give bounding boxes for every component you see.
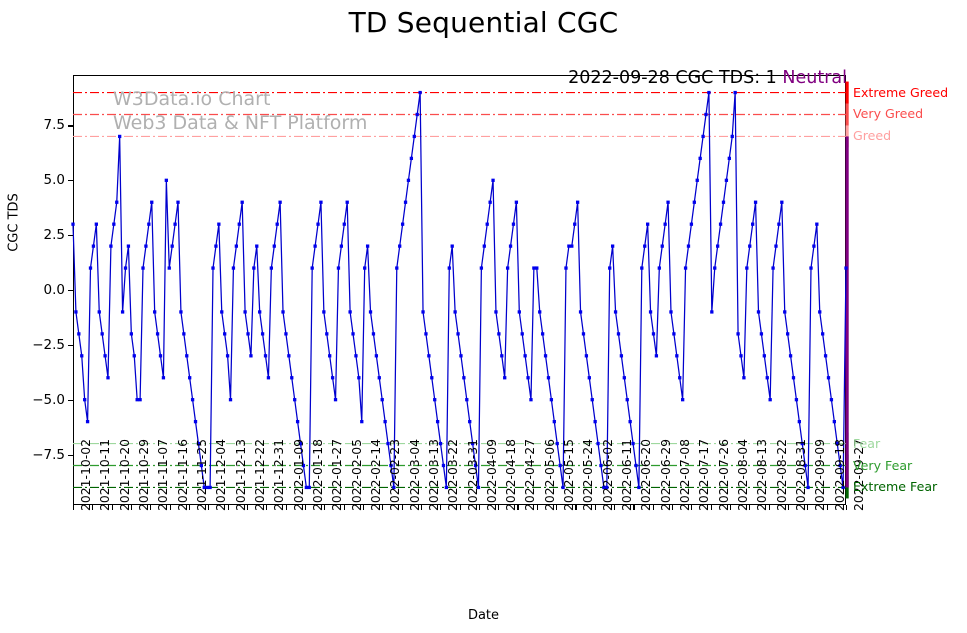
x-tick-mark xyxy=(73,505,74,510)
y-tick-label: −5.0 xyxy=(0,392,65,408)
x-tick-label: 2021-11-25 xyxy=(194,439,209,511)
x-tick-label: 2022-08-31 xyxy=(793,439,808,511)
x-tick-label: 2022-04-18 xyxy=(503,439,518,511)
x-tick-label: 2022-06-02 xyxy=(600,439,615,511)
x-tick-label: 2022-08-13 xyxy=(754,439,769,511)
x-tick-label: 2022-01-09 xyxy=(291,439,306,511)
x-tick-mark xyxy=(827,505,828,510)
y-tick-mark xyxy=(68,180,73,181)
x-tick-label: 2021-10-02 xyxy=(78,439,93,511)
x-tick-label: 2022-02-14 xyxy=(368,439,383,511)
x-tick-mark xyxy=(846,505,847,510)
annotation-sentiment: Neutral xyxy=(782,68,847,88)
x-tick-mark xyxy=(672,505,673,510)
y-axis-label: CGC TDS xyxy=(7,163,22,283)
x-tick-label: 2022-03-04 xyxy=(407,439,422,511)
x-tick-mark xyxy=(440,505,441,510)
x-tick-mark xyxy=(112,505,113,510)
x-tick-label: 2022-03-31 xyxy=(465,439,480,511)
x-tick-label: 2021-11-07 xyxy=(155,439,170,511)
x-tick-label: 2022-09-18 xyxy=(832,439,847,511)
x-tick-label: 2022-02-05 xyxy=(349,439,364,511)
x-tick-label: 2022-05-06 xyxy=(542,439,557,511)
x-tick-mark xyxy=(711,505,712,510)
threshold-label: Fear xyxy=(853,436,880,451)
y-tick-label: 7.5 xyxy=(0,117,65,133)
x-tick-label: 2022-06-29 xyxy=(658,439,673,511)
annotation-text: 2022-09-28 CGC TDS: 1 xyxy=(568,68,777,88)
x-tick-label: 2022-05-15 xyxy=(561,439,576,511)
x-tick-label: 2022-05-24 xyxy=(580,439,595,511)
x-tick-label: 2021-10-20 xyxy=(117,439,132,511)
x-tick-mark xyxy=(92,505,93,510)
x-tick-label: 2021-10-11 xyxy=(97,439,112,511)
x-tick-label: 2022-06-20 xyxy=(638,439,653,511)
x-tick-mark xyxy=(421,505,422,510)
x-tick-mark xyxy=(730,505,731,510)
x-tick-mark xyxy=(247,505,248,510)
y-tick-mark xyxy=(68,400,73,401)
x-tick-mark xyxy=(208,505,209,510)
x-tick-mark xyxy=(170,505,171,510)
page-title: TD Sequential CGC xyxy=(0,6,967,39)
x-tick-mark xyxy=(131,505,132,510)
threshold-label: Very Fear xyxy=(853,458,912,473)
x-tick-label: 2022-01-27 xyxy=(329,439,344,511)
x-tick-label: 2022-07-08 xyxy=(677,439,692,511)
x-tick-mark xyxy=(402,505,403,510)
x-tick-label: 2021-12-22 xyxy=(252,439,267,511)
x-tick-mark xyxy=(498,505,499,510)
x-tick-label: 2022-08-04 xyxy=(735,439,750,511)
x-tick-mark xyxy=(228,505,229,510)
y-tick-label: 0.0 xyxy=(0,282,65,298)
x-tick-label: 2022-06-11 xyxy=(619,439,634,511)
x-tick-label: 2022-01-18 xyxy=(310,439,325,511)
x-tick-mark xyxy=(807,505,808,510)
x-tick-label: 2022-04-09 xyxy=(484,439,499,511)
x-tick-label: 2021-12-31 xyxy=(271,439,286,511)
threshold-label: Greed xyxy=(853,128,891,143)
current-value-annotation: 2022-09-28 CGC TDS: 1 Neutral xyxy=(0,68,847,88)
x-tick-mark xyxy=(479,505,480,510)
x-tick-mark xyxy=(324,505,325,510)
x-tick-mark xyxy=(189,505,190,510)
x-tick-mark xyxy=(150,505,151,510)
threshold-label: Extreme Greed xyxy=(853,85,948,100)
y-tick-mark xyxy=(68,290,73,291)
threshold-label: Very Greed xyxy=(853,106,923,121)
watermark-line-2: Web3 Data & NFT Platform xyxy=(113,112,367,134)
x-tick-mark xyxy=(595,505,596,510)
x-tick-label: 2022-07-26 xyxy=(716,439,731,511)
y-tick-mark xyxy=(68,345,73,346)
x-tick-mark xyxy=(344,505,345,510)
x-tick-mark xyxy=(286,505,287,510)
x-tick-label: 2022-09-09 xyxy=(812,439,827,511)
x-tick-label: 2022-03-13 xyxy=(426,439,441,511)
x-tick-label: 2022-04-27 xyxy=(522,439,537,511)
y-tick-label: −7.5 xyxy=(0,447,65,463)
x-tick-label: 2021-12-13 xyxy=(233,439,248,511)
x-tick-mark xyxy=(614,505,615,510)
y-tick-mark xyxy=(68,455,73,456)
x-tick-mark xyxy=(266,505,267,510)
x-tick-mark xyxy=(691,505,692,510)
x-tick-mark xyxy=(363,505,364,510)
x-tick-mark xyxy=(537,505,538,510)
x-tick-mark xyxy=(769,505,770,510)
x-tick-label: 2021-11-16 xyxy=(175,439,190,511)
x-tick-label: 2022-03-22 xyxy=(445,439,460,511)
x-tick-label: 2021-10-29 xyxy=(136,439,151,511)
x-tick-mark xyxy=(575,505,576,510)
x-tick-mark xyxy=(460,505,461,510)
x-tick-mark xyxy=(633,505,634,510)
x-tick-mark xyxy=(653,505,654,510)
y-tick-label: −2.5 xyxy=(0,337,65,353)
x-tick-label: 2021-12-04 xyxy=(213,439,228,511)
y-tick-mark xyxy=(68,235,73,236)
x-tick-label: 2022-07-17 xyxy=(696,439,711,511)
x-tick-label: 2022-02-23 xyxy=(387,439,402,511)
x-tick-mark xyxy=(305,505,306,510)
x-tick-mark xyxy=(382,505,383,510)
x-axis-label: Date xyxy=(0,608,967,623)
y-tick-mark xyxy=(68,125,73,126)
x-tick-mark xyxy=(749,505,750,510)
threshold-label: Extreme Fear xyxy=(853,479,937,494)
x-tick-label: 2022-08-22 xyxy=(774,439,789,511)
x-tick-mark xyxy=(517,505,518,510)
x-tick-mark xyxy=(788,505,789,510)
watermark-line-1: W3Data.io Chart xyxy=(113,88,270,110)
x-tick-mark xyxy=(556,505,557,510)
